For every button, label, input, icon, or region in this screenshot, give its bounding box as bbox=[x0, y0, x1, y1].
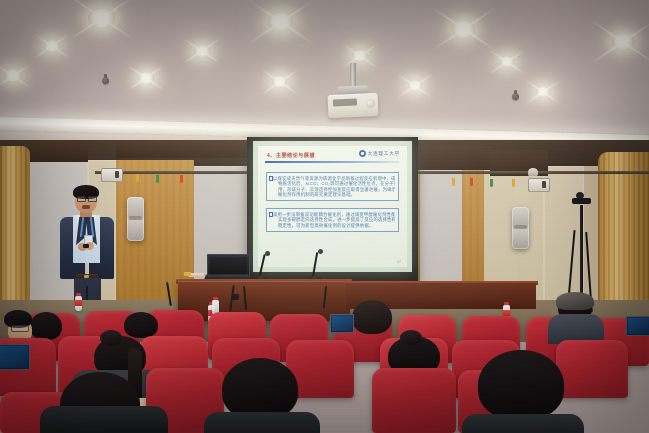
microphone-head bbox=[318, 249, 323, 254]
eyeglasses-bridge bbox=[84, 197, 88, 198]
presentation-clicker[interactable] bbox=[83, 244, 89, 248]
wood-column-right bbox=[598, 152, 649, 320]
auditorium-seat[interactable] bbox=[372, 368, 456, 433]
decor-hook bbox=[512, 179, 515, 187]
auditorium-seat[interactable] bbox=[556, 340, 628, 398]
eyeglasses-icon bbox=[11, 325, 29, 332]
wall-upper-dark-block bbox=[418, 146, 490, 170]
slide-page-number: 17 bbox=[397, 260, 401, 264]
decor-hook bbox=[180, 175, 183, 183]
cable bbox=[232, 294, 239, 300]
projection-screen: 4、主要结论与展望 大连理工大学 以煤炭或天然气等资源为碳源化学品制备过程反应机… bbox=[253, 141, 412, 272]
wall-speaker-right bbox=[512, 207, 529, 249]
wall-speaker-left bbox=[127, 197, 144, 241]
audience-laptop[interactable] bbox=[626, 316, 649, 336]
wall-speaker-dome-right bbox=[528, 168, 538, 176]
audience-member-hair-bun bbox=[100, 330, 122, 346]
audience-laptop[interactable] bbox=[330, 314, 354, 333]
audience-member-head bbox=[30, 312, 62, 340]
slide-line: 催化剂作用机制的研究奠定理论基础。 bbox=[273, 192, 395, 198]
sprinkler-head bbox=[512, 93, 519, 100]
audience-laptop[interactable] bbox=[0, 344, 30, 370]
camera-tripod-bracket bbox=[572, 198, 591, 204]
wall-control-panel-left[interactable] bbox=[101, 168, 123, 182]
decor-hook bbox=[156, 175, 159, 183]
projector-label bbox=[333, 98, 357, 106]
slide-title: 4、主要结论与展望 bbox=[267, 152, 315, 159]
slide-bullet-1: 以煤炭或天然气等资源为碳源化学品制备过程反应机理中，碳源中的碳 物质活化后，从C… bbox=[266, 172, 399, 201]
wood-column-left bbox=[0, 146, 30, 320]
conference-hall-photo: 4、主要结论与展望 大连理工大学 以煤炭或天然气等资源为碳源化学品制备过程反应机… bbox=[0, 0, 649, 433]
bottle-cap bbox=[504, 302, 509, 305]
slide-bullet-2: 采用一步法制备双功能耦合催化剂，通过调变甲醇催化剂性能， 实现多碳醇定向选择性合… bbox=[266, 208, 399, 232]
decor-hook bbox=[470, 178, 473, 186]
audience-member-body bbox=[204, 412, 320, 433]
audience-member-head bbox=[124, 312, 158, 338]
audience-member-head bbox=[478, 350, 564, 420]
audience-member-body bbox=[462, 414, 584, 433]
bottle-cap bbox=[213, 297, 218, 300]
audience-member-head bbox=[352, 300, 392, 334]
bottle-cap bbox=[76, 293, 81, 296]
microphone-head bbox=[265, 251, 270, 256]
wall-upper-dark-block bbox=[30, 140, 88, 162]
decor-hook bbox=[452, 178, 455, 186]
audience-member-head bbox=[222, 358, 298, 420]
podium-papers bbox=[184, 272, 191, 276]
eyeglasses-icon bbox=[88, 196, 97, 202]
logo-text: 大连理工大学 bbox=[368, 151, 400, 157]
decor-hook bbox=[136, 174, 139, 182]
decor-hook bbox=[490, 179, 493, 187]
audience-member-hair-bun bbox=[400, 330, 422, 345]
wall-control-panel-right[interactable] bbox=[528, 178, 550, 192]
university-logo: 大连理工大学 bbox=[359, 150, 400, 157]
wall-upper-dark-block bbox=[116, 140, 256, 158]
presenter bbox=[56, 187, 118, 313]
wall-panel bbox=[544, 166, 584, 308]
audience-member-hair-grey bbox=[556, 292, 594, 310]
logo-seal-icon bbox=[359, 150, 366, 157]
slide-title-underline bbox=[265, 161, 399, 163]
slide-line: 稳定性，可为新型高效催化剂的设计提供依据。 bbox=[273, 223, 395, 229]
slide-surface: 4、主要结论与展望 大连理工大学 以煤炭或天然气等资源为碳源化学品制备过程反应机… bbox=[258, 146, 407, 267]
bottle-label bbox=[75, 300, 82, 306]
presenter-mouth bbox=[82, 205, 90, 209]
audience-member-body bbox=[40, 406, 168, 433]
sprinkler-head bbox=[102, 77, 109, 84]
